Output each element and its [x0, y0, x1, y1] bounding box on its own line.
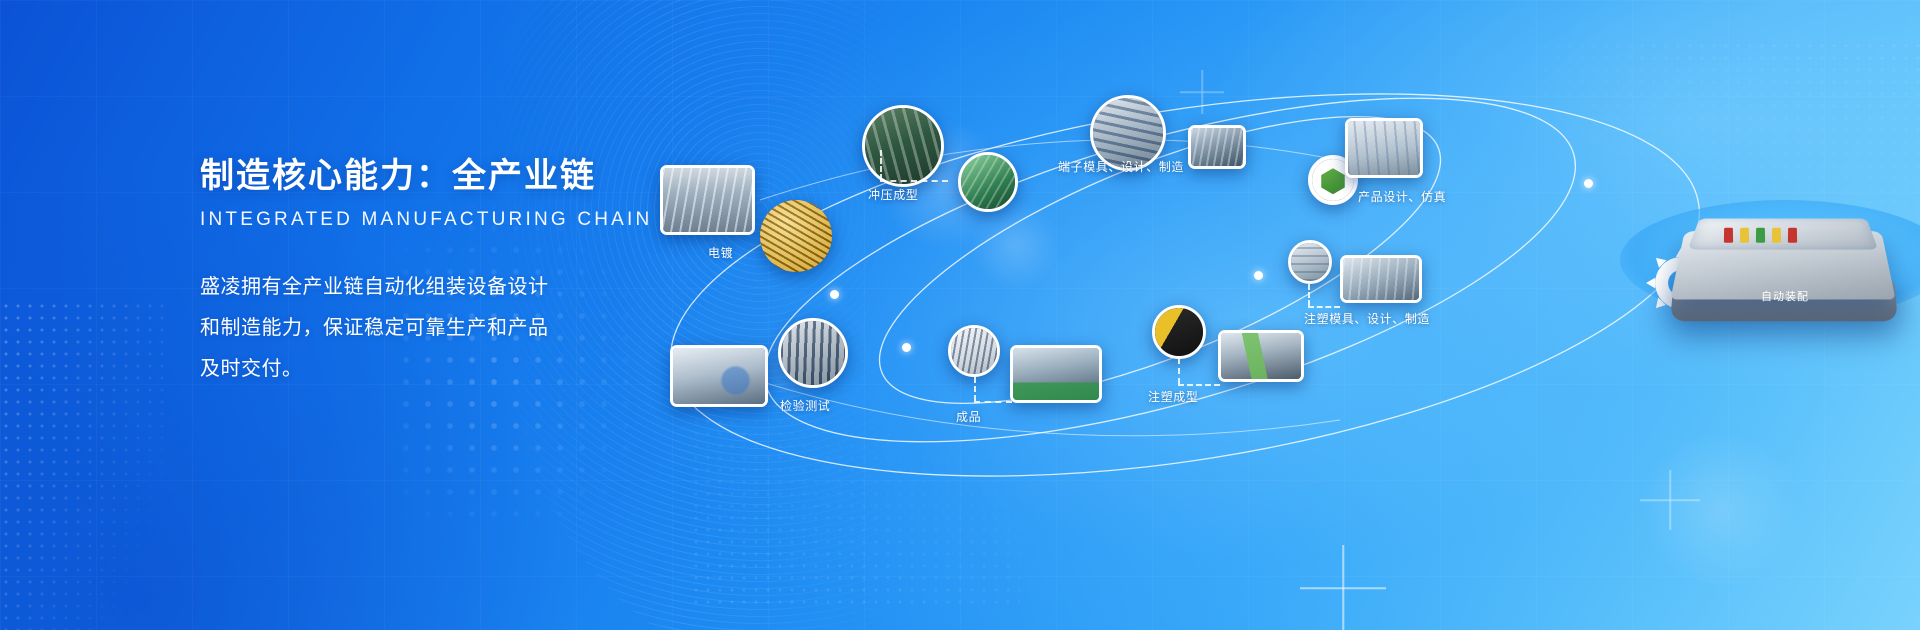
node-injection-mold-icon[interactable] [1288, 240, 1332, 284]
central-assembly-machine: 自动装配 [1650, 200, 1920, 330]
machine-slot-5 [1788, 228, 1797, 243]
node-electroplating-label: 电镀 [708, 244, 733, 261]
terminal-mold-detail-thumbnail[interactable] [1188, 125, 1246, 169]
connector-pip-2 [902, 343, 911, 352]
node-electroplating-thumbnail[interactable] [660, 165, 755, 235]
node-injection-molding-label: 注塑成型 [1148, 388, 1198, 405]
stamping-dash-h [880, 180, 948, 182]
stamping-detail-thumbnail[interactable] [958, 152, 1018, 212]
node-product-design-thumbnail[interactable] [1345, 118, 1423, 178]
injection-molding-dash-h [1178, 384, 1220, 386]
body-copy: 盛凌拥有全产业链自动化组装设备设计和制造能力，保证稳定可靠生产和产品及时交付。 [200, 267, 560, 390]
connector-pip-5 [1584, 179, 1593, 188]
machine-slot-3 [1756, 228, 1765, 243]
gold-coil-icon [760, 200, 832, 272]
central-label: 自动装配 [1650, 288, 1920, 304]
stamping-dash-v [880, 150, 882, 180]
machine-top [1688, 218, 1878, 249]
node-finished-product-icon[interactable] [948, 325, 1000, 377]
injection-mold-dash-v [1308, 284, 1310, 306]
node-terminal-mold-label: 端子模具、设计、制造 [1058, 158, 1184, 175]
node-inspection-icon[interactable] [778, 318, 848, 388]
node-injection-mold-thumbnail[interactable] [1340, 255, 1422, 303]
node-finished-product-label: 成品 [956, 408, 981, 425]
connector-pip-3 [1254, 271, 1263, 280]
node-product-design-label: 产品设计、仿真 [1358, 188, 1446, 205]
node-injection-molding-thumbnail[interactable] [1218, 330, 1304, 382]
node-inspection-thumbnail[interactable] [670, 345, 768, 407]
node-stamping-thumbnail[interactable] [862, 105, 944, 187]
injection-molding-dash-v [1178, 358, 1180, 384]
process-diagram: 自动装配 电镀 冲压成型 [640, 0, 1920, 630]
node-injection-mold-label: 注塑模具、设计、制造 [1304, 310, 1430, 327]
finished-product-dash-v [974, 377, 976, 401]
machine-slot-2 [1740, 228, 1749, 243]
connector-pip-1 [830, 290, 839, 299]
background-dots-left [0, 300, 170, 630]
manufacturing-chain-banner: 制造核心能力：全产业链 INTEGRATED MANUFACTURING CHA… [0, 0, 1920, 630]
machine-slot-1 [1724, 228, 1733, 243]
finished-product-dash-h [974, 401, 1012, 403]
node-inspection-label: 检验测试 [780, 397, 830, 414]
injection-mold-dash-h [1308, 306, 1340, 308]
machine-slot-4 [1772, 228, 1781, 243]
node-finished-product-thumbnail[interactable] [1010, 345, 1102, 403]
node-injection-molding-icon[interactable] [1152, 305, 1206, 359]
node-stamping-label: 冲压成型 [868, 186, 918, 203]
